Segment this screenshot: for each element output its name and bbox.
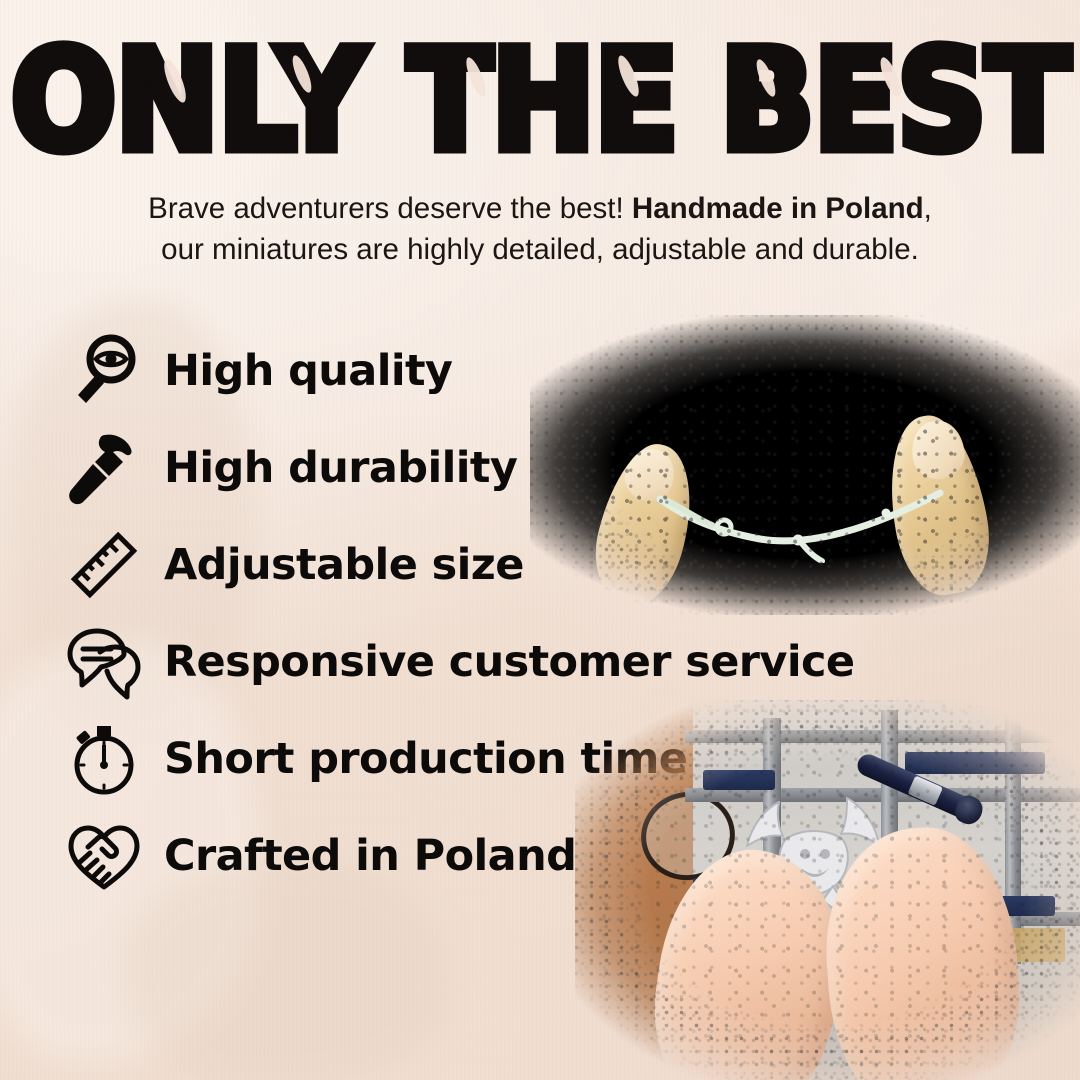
magnifier-eye-icon	[62, 329, 146, 413]
photo-grain	[575, 700, 1080, 1080]
promo-card: ONLY THE BEST Brave adventurers deserve …	[0, 0, 1080, 1080]
photo-torn-mask	[575, 700, 1080, 1080]
stopwatch-icon	[62, 717, 146, 801]
workshop-hands-photo	[575, 700, 1080, 1080]
photo-torn-mask	[530, 315, 1080, 615]
subtitle-highlight: Handmade in Poland	[632, 192, 924, 225]
feature-label: Responsive customer service	[164, 637, 854, 687]
subtitle-line1-prefix: Brave adventurers deserve the best!	[148, 192, 632, 225]
page-title: ONLY THE BEST	[0, 32, 1080, 171]
heart-handshake-icon	[62, 814, 146, 898]
subtitle-line2: our miniatures are highly detailed, adju…	[161, 233, 919, 266]
photo-grain	[530, 315, 1080, 615]
feature-label: High durability	[164, 443, 517, 493]
feature-label: Crafted in Poland	[164, 831, 576, 881]
miniature-closeup-photo	[530, 315, 1080, 615]
speech-bubbles-icon	[62, 620, 146, 704]
hammer-icon	[62, 426, 146, 510]
feature-item-customer-service: Responsive customer service	[62, 613, 792, 710]
ruler-icon	[62, 523, 146, 607]
feature-label: Adjustable size	[164, 540, 524, 590]
feature-label: High quality	[164, 346, 452, 396]
subtitle-line1-suffix: ,	[924, 192, 932, 225]
subtitle: Brave adventurers deserve the best! Hand…	[60, 189, 1020, 270]
